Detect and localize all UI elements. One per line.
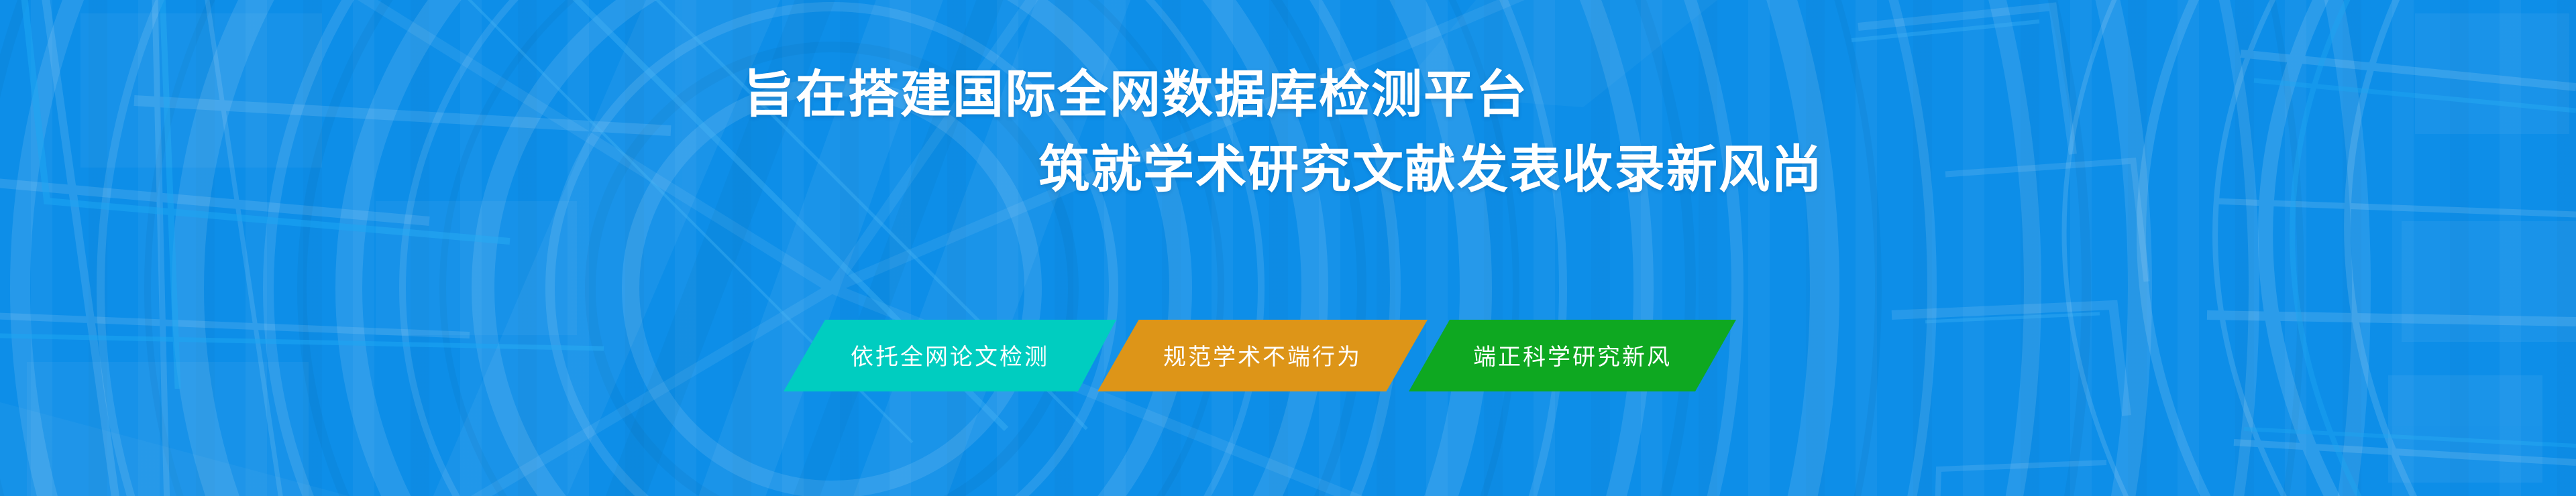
headline: 旨在搭建国际全网数据库检测平台 筑就学术研究文献发表收录新风尚 xyxy=(0,58,1865,208)
feature-tag-1[interactable]: 依托全网论文检测 xyxy=(784,320,1116,391)
feature-tag-3[interactable]: 端正科学研究新风 xyxy=(1409,320,1736,391)
promotional-banner: 旨在搭建国际全网数据库检测平台 筑就学术研究文献发表收录新风尚 依托全网论文检测… xyxy=(0,0,2576,496)
feature-tag-1-label: 依托全网论文检测 xyxy=(851,338,1049,373)
feature-tag-2-label: 规范学术不端行为 xyxy=(1163,338,1362,373)
feature-tag-2[interactable]: 规范学术不端行为 xyxy=(1097,320,1428,391)
headline-line-1: 旨在搭建国际全网数据库检测平台 xyxy=(0,58,1865,133)
feature-tag-3-label: 端正科学研究新风 xyxy=(1473,338,1672,373)
headline-line-2: 筑就学术研究文献发表收录新风尚 xyxy=(0,133,1865,208)
feature-tag-ribbon: 依托全网论文检测 规范学术不端行为 端正科学研究新风 xyxy=(784,320,1801,391)
